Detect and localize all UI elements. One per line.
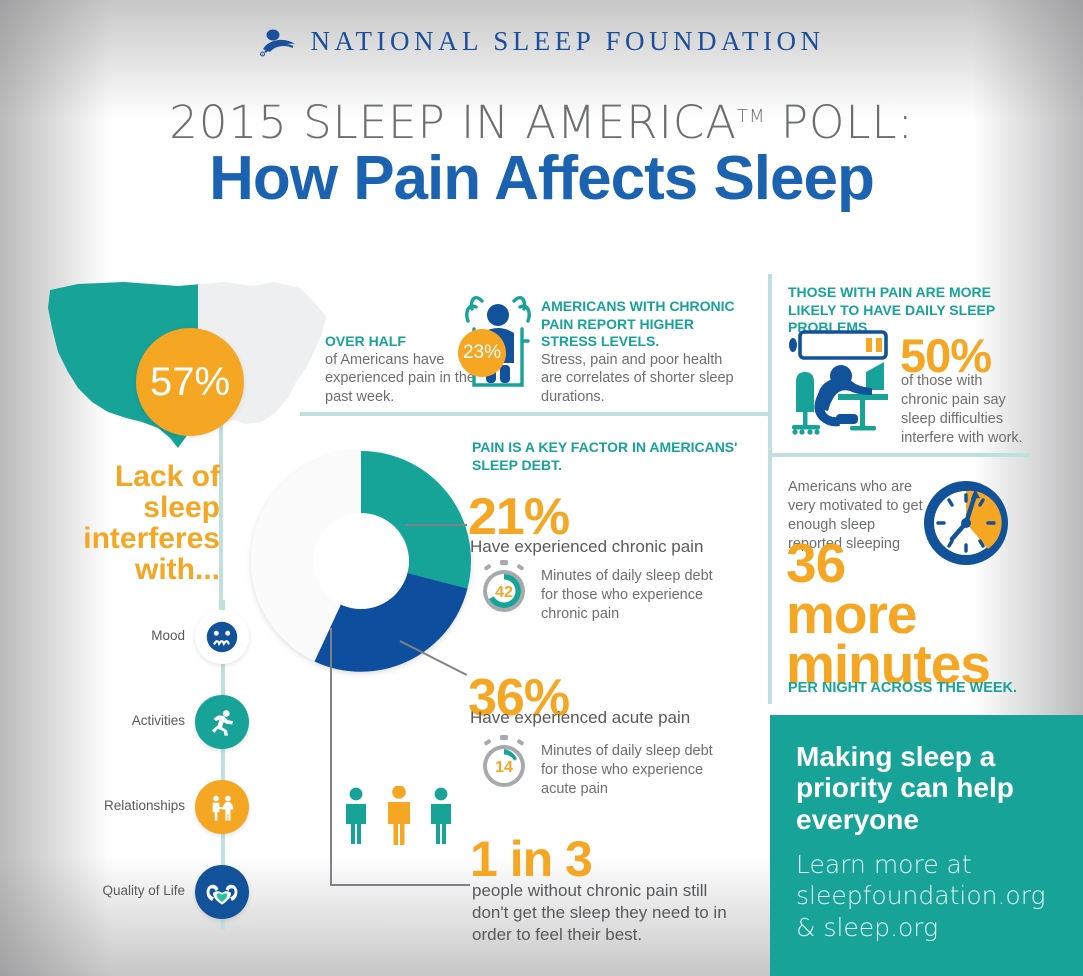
divider-horizontal-right	[772, 453, 1030, 457]
sleep-debt-eyebrow: PAIN IS A KEY FACTOR IN AMERICANS' SLEEP…	[472, 439, 747, 474]
stat-42-caption: Minutes of daily sleep debt for those wh…	[541, 567, 726, 624]
kicker-suffix: POLL:	[766, 96, 914, 149]
page-title: How Pain Affects Sleep	[0, 143, 1083, 214]
over-half-eyebrow: OVER HALF	[325, 333, 475, 351]
divider-horizontal-middle	[300, 412, 770, 416]
three-people-icon	[340, 786, 458, 846]
sad-face-icon	[195, 610, 249, 664]
interferes-heading: Lack of sleep interferes with...	[60, 462, 220, 586]
couple-icon	[195, 780, 249, 834]
cta-heading: Making sleep a priority can help everyon…	[796, 741, 1059, 835]
stat-badge-23-value: 23%	[463, 342, 501, 364]
stopwatch-icon: 14	[476, 733, 532, 789]
stat-21-label: Have experienced chronic pain	[470, 537, 703, 557]
brand-name: NATIONAL SLEEP FOUNDATION	[311, 26, 825, 57]
stress-body: Stress, pain and poor health are correla…	[541, 351, 746, 408]
list-item-label: Activities	[132, 713, 185, 728]
stat-badge-57: 57%	[136, 328, 244, 436]
stopwatch-value: 42	[495, 584, 513, 601]
leader-line-1in3-horizontal	[330, 884, 470, 886]
stat-badge-57-value: 57%	[150, 360, 230, 405]
cta-subtext[interactable]: Learn more at sleepfoundation.org & slee…	[796, 849, 1059, 943]
stat-50-body: of those with chronic pain say sleep dif…	[901, 372, 1029, 447]
infographic-canvas: ® NATIONAL SLEEP FOUNDATION 2015 SLEEP I…	[0, 0, 1083, 976]
poll-kicker: 2015 SLEEP IN AMERICATM POLL:	[0, 96, 1083, 149]
flexing-arms-heart-icon	[195, 865, 249, 919]
list-item-relationships[interactable]: Relationships	[195, 770, 251, 855]
list-item-label: Quality of Life	[102, 883, 185, 898]
list-item-label: Mood	[151, 628, 185, 643]
stress-eyebrow: AMERICANS WITH CHRONIC PAIN REPORT HIGHE…	[541, 298, 746, 351]
brand-logo: ® NATIONAL SLEEP FOUNDATION	[0, 26, 1083, 57]
over-half-callout: OVER HALF of Americans have experienced …	[325, 333, 475, 407]
over-half-body: of Americans have experienced pain in th…	[325, 351, 475, 408]
list-item-label: Relationships	[104, 798, 185, 813]
stress-callout: AMERICANS WITH CHRONIC PAIN REPORT HIGHE…	[541, 298, 746, 407]
stat-36-minutes: 36 more minutes	[786, 538, 1016, 690]
leader-line-1in3-vertical	[330, 628, 332, 885]
cta-panel[interactable]: Making sleep a priority can help everyon…	[770, 715, 1083, 976]
per-night-footer: PER NIGHT ACROSS THE WEEK.	[788, 680, 1017, 696]
stopwatch-value: 14	[495, 759, 513, 776]
stat-36-line2: more	[786, 589, 1016, 640]
stat-36-label: Have experienced acute pain	[470, 708, 690, 728]
stopwatch-icon: 42	[476, 558, 532, 614]
running-person-icon	[195, 695, 249, 749]
divider-vertical-right	[768, 274, 772, 704]
stat-36-number: 36	[786, 538, 1016, 589]
tired-worker-at-desk-icon	[788, 328, 906, 440]
pain-experience-donut-chart	[243, 443, 479, 679]
kicker-main: 2015 SLEEP IN AMERICA	[169, 96, 737, 149]
sleeping-person-icon: ®	[259, 27, 299, 57]
list-item-quality-of-life[interactable]: Quality of Life	[195, 855, 251, 940]
list-item-activities[interactable]: Activities	[195, 685, 251, 770]
stat-badge-23: 23%	[458, 329, 506, 377]
leader-line-21	[405, 524, 467, 526]
stat-1-in-3-body: people without chronic pain still don't …	[472, 880, 730, 946]
stat-14-caption: Minutes of daily sleep debt for those wh…	[541, 742, 726, 799]
trademark-mark: TM	[737, 106, 766, 127]
